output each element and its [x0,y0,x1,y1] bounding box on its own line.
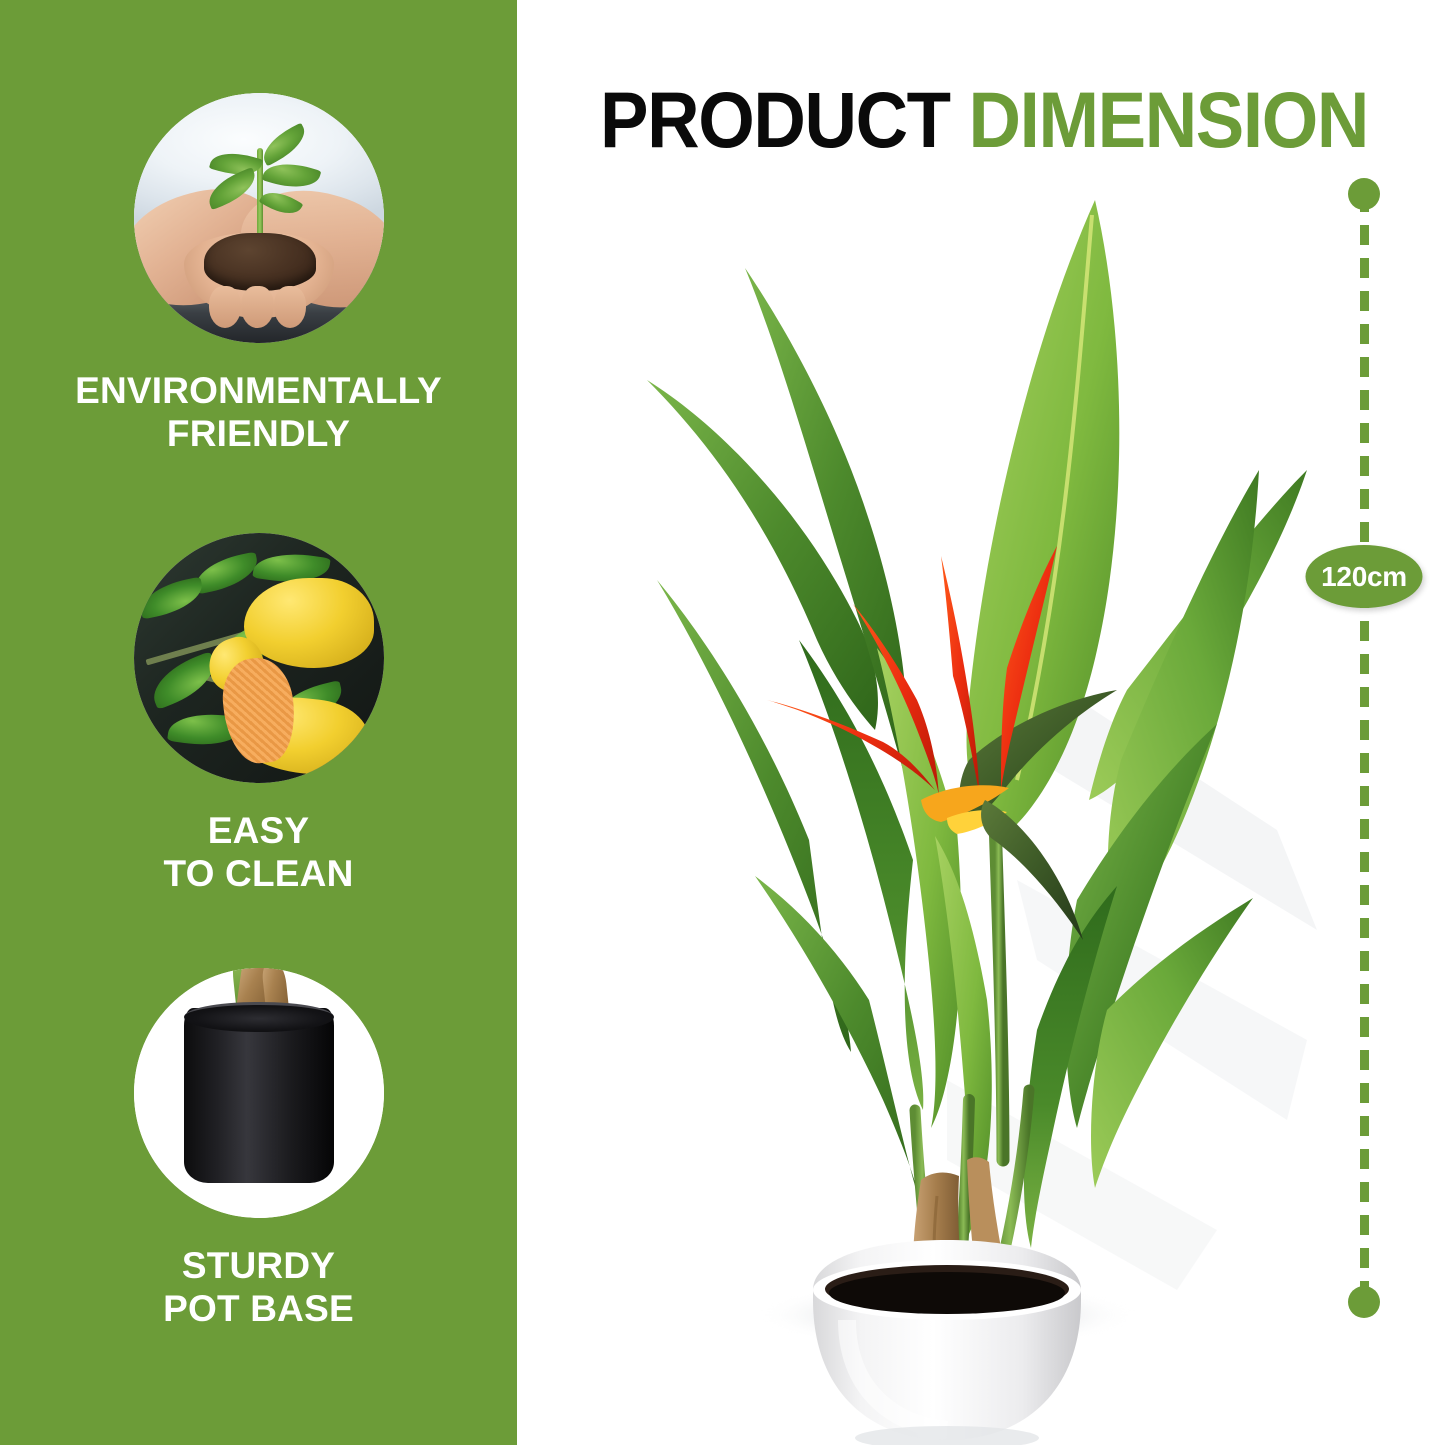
feature-item-sturdy-pot-base: STURDY POT BASE [0,968,517,1331]
feature-item-environmentally-friendly: ENVIRONMENTALLY FRIENDLY [0,93,517,456]
dimension-ruler: 120cm [1341,178,1387,1318]
feature-item-easy-to-clean: EASY TO CLEAN [0,533,517,896]
product-infographic: ENVIRONMENTALLY FRIENDLY [0,0,1445,1445]
dimension-value-badge: 120cm [1306,545,1423,608]
gloves-cleaning-leaves-photo [134,533,384,783]
product-plant-image [517,0,1337,1445]
feature-label: EASY TO CLEAN [0,809,517,896]
main-panel: PRODUCT DIMENSION [517,0,1445,1445]
ruler-endpoint-bottom-icon [1348,1286,1380,1318]
feature-label: STURDY POT BASE [0,1244,517,1331]
ruler-dashed-line [1360,192,1369,1304]
features-sidebar: ENVIRONMENTALLY FRIENDLY [0,0,517,1445]
feature-label: ENVIRONMENTALLY FRIENDLY [0,369,517,456]
hands-holding-seedling-photo [134,93,384,343]
black-nursery-pot-photo [134,968,384,1218]
dimension-value-text: 120cm [1321,561,1407,593]
